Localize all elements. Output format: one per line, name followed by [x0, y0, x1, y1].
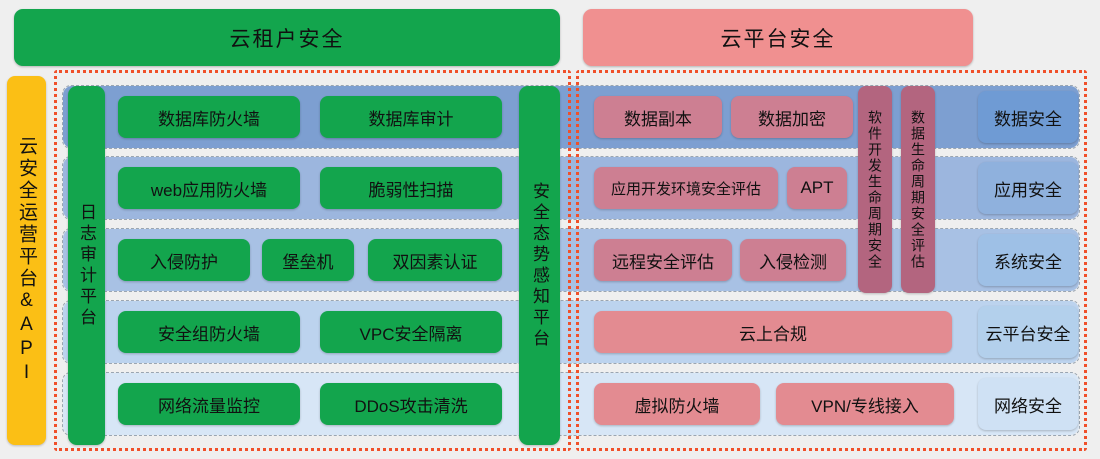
tenant-item-r3-c2-label: 堡垒机	[283, 248, 334, 273]
platform-item-r5-c1-label: 虚拟防火墙	[635, 392, 720, 417]
platform-item-r4-c1[interactable]: 云上合规	[594, 311, 952, 353]
rail-log-audit-platform[interactable]: 日志审计平台	[68, 86, 105, 445]
category-5[interactable]: 网络安全	[978, 378, 1078, 430]
rail-log-label: 日志审计平台	[78, 203, 95, 329]
category-4-label: 云平台安全	[986, 320, 1071, 345]
platform-item-r3-c1-label: 远程安全评估	[612, 248, 714, 273]
platform-item-r1-c2[interactable]: 数据加密	[731, 96, 853, 138]
rail-cloud-security-ops-platform-api[interactable]: 云安全运营平台&API	[7, 76, 46, 445]
category-2[interactable]: 应用安全	[978, 162, 1078, 214]
tenant-item-r3-c3-label: 双因素认证	[393, 248, 478, 273]
category-3-label: 系统安全	[994, 248, 1062, 273]
column-software-development-lifecycle-security[interactable]: 软件开发生命周期安全	[858, 86, 892, 293]
tenant-item-r1-c1-label: 数据库防火墙	[158, 105, 260, 130]
diagram-canvas: 云租户安全 云平台安全 云安全运营平台&API 日志审计平台 安全态势感知平台 …	[0, 0, 1100, 459]
rail-situation-label: 安全态势感知平台	[531, 182, 548, 350]
category-1[interactable]: 数据安全	[978, 91, 1078, 143]
tenant-item-r2-c2[interactable]: 脆弱性扫描	[320, 167, 502, 209]
category-1-label: 数据安全	[994, 105, 1062, 130]
tenant-item-r4-c2-label: VPC安全隔离	[360, 320, 463, 345]
banner-cloud-platform-security: 云平台安全	[583, 9, 973, 66]
platform-item-r5-c2[interactable]: VPN/专线接入	[776, 383, 954, 425]
rail-situation-awareness-platform[interactable]: 安全态势感知平台	[519, 86, 560, 445]
category-2-label: 应用安全	[994, 176, 1062, 201]
platform-item-r5-c1[interactable]: 虚拟防火墙	[594, 383, 760, 425]
column-data-lifecycle-security-assessment[interactable]: 数据生命周期安全评估	[901, 86, 935, 293]
tenant-item-r5-c1-label: 网络流量监控	[158, 392, 260, 417]
platform-item-r3-c2-label: 入侵检测	[759, 248, 827, 273]
tenant-item-r1-c2-label: 数据库审计	[369, 105, 454, 130]
tenant-item-r3-c3[interactable]: 双因素认证	[368, 239, 502, 281]
banner-cloud-tenant-security: 云租户安全	[14, 9, 560, 66]
tenant-item-r3-c1-label: 入侵防护	[150, 248, 218, 273]
platform-item-r2-c2[interactable]: APT	[787, 167, 847, 209]
column-sdl-label: 软件开发生命周期安全	[868, 110, 882, 270]
tenant-item-r2-c1-label: web应用防火墙	[151, 176, 267, 201]
tenant-item-r3-c2[interactable]: 堡垒机	[262, 239, 354, 281]
tenant-item-r4-c2[interactable]: VPC安全隔离	[320, 311, 502, 353]
tenant-item-r5-c2[interactable]: DDoS攻击清洗	[320, 383, 502, 425]
tenant-item-r5-c2-label: DDoS攻击清洗	[354, 392, 467, 417]
tenant-item-r1-c2[interactable]: 数据库审计	[320, 96, 502, 138]
tenant-item-r4-c1-label: 安全组防火墙	[158, 320, 260, 345]
platform-item-r3-c1[interactable]: 远程安全评估	[594, 239, 732, 281]
tenant-item-r2-c2-label: 脆弱性扫描	[369, 176, 454, 201]
tenant-item-r3-c1[interactable]: 入侵防护	[118, 239, 250, 281]
platform-item-r3-c2[interactable]: 入侵检测	[740, 239, 846, 281]
platform-item-r1-c1-label: 数据副本	[624, 105, 692, 130]
category-5-label: 网络安全	[994, 392, 1062, 417]
platform-item-r5-c2-label: VPN/专线接入	[811, 392, 919, 417]
category-4[interactable]: 云平台安全	[978, 306, 1078, 358]
platform-item-r4-c1-label: 云上合规	[739, 320, 807, 345]
tenant-item-r1-c1[interactable]: 数据库防火墙	[118, 96, 300, 138]
platform-item-r1-c2-label: 数据加密	[758, 105, 826, 130]
platform-item-r2-c1-label: 应用开发环境安全评估	[611, 178, 761, 199]
column-dlc-label: 数据生命周期安全评估	[911, 110, 925, 270]
tenant-item-r2-c1[interactable]: web应用防火墙	[118, 167, 300, 209]
platform-item-r2-c1[interactable]: 应用开发环境安全评估	[594, 167, 778, 209]
platform-item-r1-c1[interactable]: 数据副本	[594, 96, 722, 138]
category-3[interactable]: 系统安全	[978, 234, 1078, 286]
tenant-item-r4-c1[interactable]: 安全组防火墙	[118, 311, 300, 353]
tenant-item-r5-c1[interactable]: 网络流量监控	[118, 383, 300, 425]
rail-ops-label: 云安全运营平台&API	[17, 136, 36, 386]
platform-item-r2-c2-label: APT	[800, 178, 833, 198]
